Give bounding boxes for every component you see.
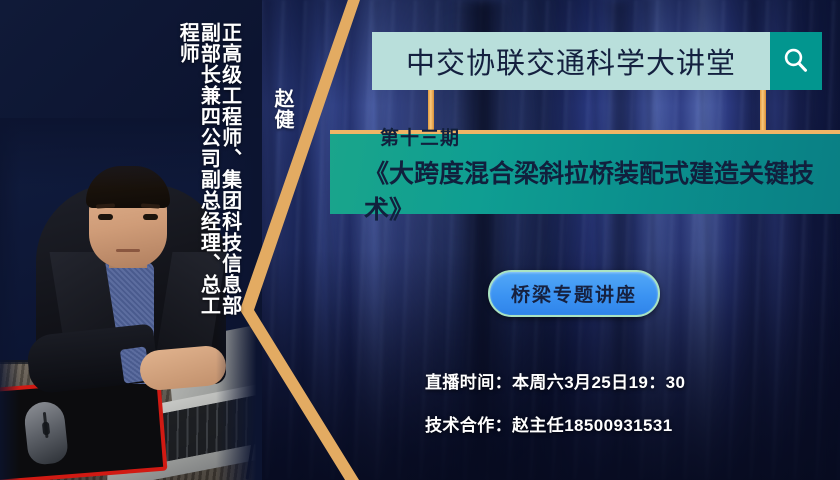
title-banner-body: 中交协联交通科学大讲堂 (372, 32, 770, 90)
subtitle-band: 第十三期 《大跨度混合梁斜拉桥装配式建造关键技术》 (330, 130, 840, 214)
livestream-time: 直播时间：本周六3月25日19：30 (425, 368, 685, 393)
livestream-poster: 赵健 正高级工程师、集团科技信息部副部长兼四公司副总经理、总工程师 中交协联交通… (0, 0, 840, 480)
photo-eye-right (143, 214, 158, 220)
topic-category-button[interactable]: 桥梁专题讲座 (488, 270, 660, 317)
contact-info: 技术合作：赵主任18500931531 (425, 411, 673, 436)
photo-mouth (116, 249, 140, 252)
photo-eye-left (98, 214, 113, 220)
topic-category-label: 桥梁专题讲座 (511, 280, 637, 307)
topic-title: 《大跨度混合梁斜拉桥装配式建造关键技术》 (364, 154, 840, 226)
search-button[interactable] (770, 32, 822, 90)
photo-mouse-wheel (41, 422, 49, 436)
banner-title-text: 中交协联交通科学大讲堂 (406, 40, 736, 82)
search-icon (781, 46, 811, 76)
speaker-title: 正高级工程师、集团科技信息部副部长兼四公司副总经理、总工程师 (176, 22, 240, 318)
gold-chevron-divider (232, 0, 382, 480)
title-banner: 中交协联交通科学大讲堂 (372, 32, 822, 90)
speaker-name: 赵健 (271, 88, 292, 130)
photo-fade-left (0, 118, 20, 480)
episode-label: 第十三期 (364, 123, 840, 150)
